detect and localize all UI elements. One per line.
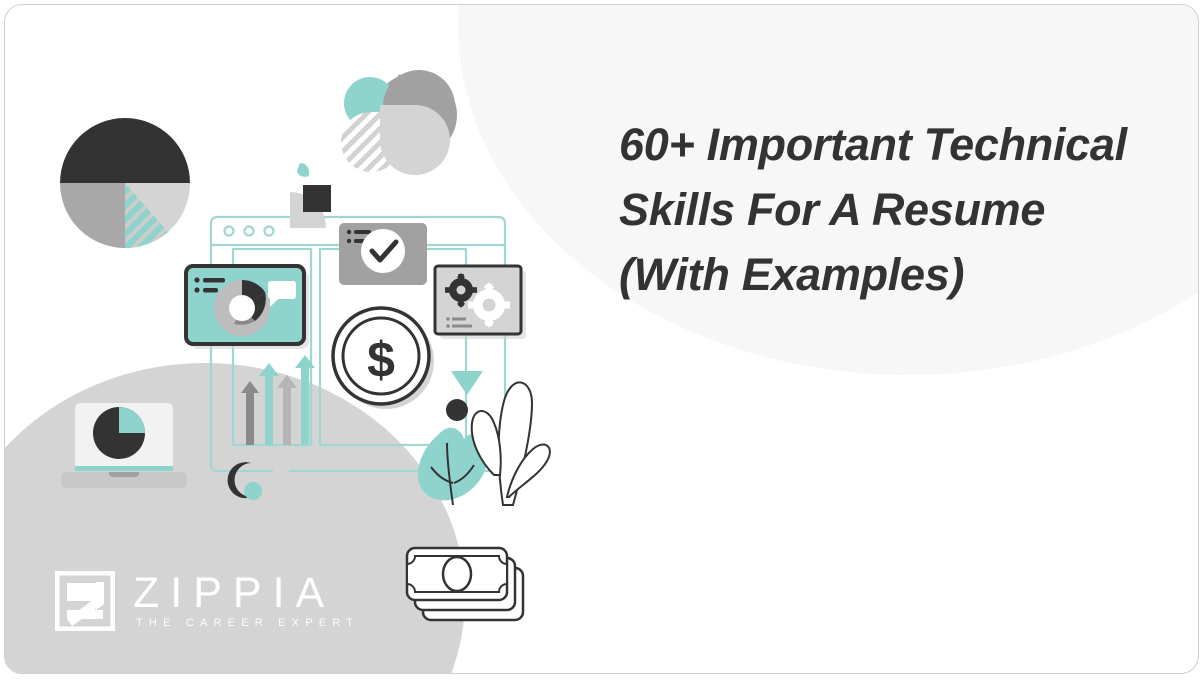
logo-tagline: THE CAREER EXPERT <box>133 615 359 631</box>
abstract-shapes <box>290 185 331 228</box>
logo-wordmark: ZIPPIA <box>133 571 359 615</box>
promo-card: $ <box>4 4 1199 674</box>
zippia-z-mark-icon <box>55 571 115 631</box>
check-card <box>339 223 427 285</box>
laptop-pie-icon <box>61 403 187 488</box>
crescent-icon <box>228 462 262 500</box>
growth-arrows-icon <box>241 355 315 445</box>
teal-triangle-icon <box>451 371 483 395</box>
logo-text-wrap: ZIPPIA THE CAREER EXPERT <box>133 571 359 631</box>
gray-tab <box>273 449 289 479</box>
banknotes-icon <box>407 548 523 620</box>
zippia-logo: ZIPPIA THE CAREER EXPERT <box>55 571 359 631</box>
donut-chart <box>214 280 270 336</box>
page-title: 60+ Important Technical Skills For A Res… <box>619 112 1139 307</box>
laptop-pie-chart <box>93 407 145 459</box>
outline-leaf-icon <box>472 382 550 505</box>
small-teal-leaf-icon <box>297 163 309 177</box>
flower-petals-icon <box>341 70 457 175</box>
teal-donut-card <box>186 266 309 349</box>
pie-chart-icon <box>60 118 190 248</box>
dark-dot-icon <box>446 399 468 421</box>
gears-card <box>435 266 526 339</box>
svg-text:$: $ <box>367 332 395 388</box>
dollar-coin-icon: $ <box>333 308 434 409</box>
